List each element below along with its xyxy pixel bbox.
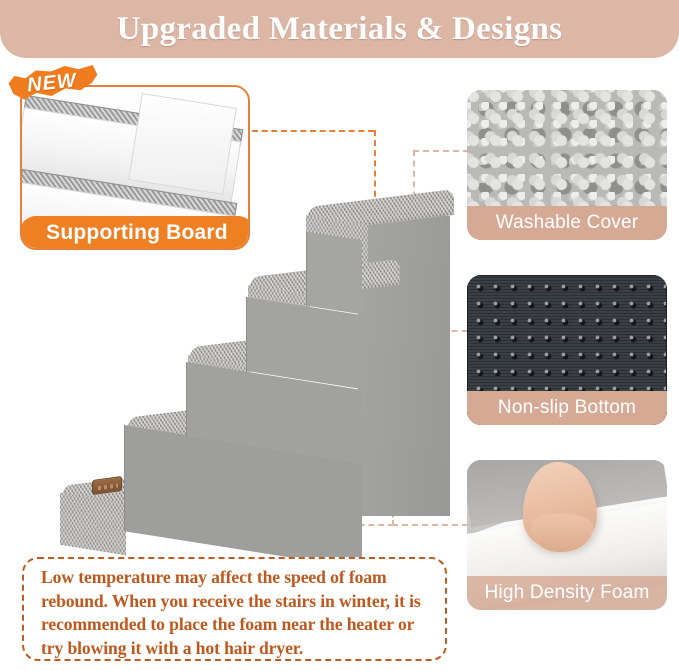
feature-card-high-density-foam: High Density Foam — [467, 460, 667, 610]
new-badge-text: NEW — [4, 61, 99, 104]
stairs-right-side-panel — [358, 216, 450, 516]
high-density-foam-label-text: High Density Foam — [485, 582, 650, 604]
page-title: Upgraded Materials & Designs — [117, 13, 563, 46]
connector-orange-horizontal — [252, 130, 374, 132]
temperature-warning-text: Low temperature may affect the speed of … — [41, 566, 429, 660]
header-banner: Upgraded Materials & Designs — [0, 0, 679, 58]
new-badge: NEW — [6, 66, 98, 100]
feature-card-non-slip-bottom: Non-slip Bottom — [467, 275, 667, 425]
stairs-front-face-top — [306, 232, 362, 315]
temperature-warning-note: Low temperature may affect the speed of … — [22, 557, 447, 661]
washable-cover-label: Washable Cover — [467, 206, 667, 240]
connector-tan-washable-horizontal — [413, 150, 469, 152]
infographic-canvas: Upgraded Materials & Designs Supporting … — [0, 0, 679, 671]
high-density-foam-label: High Density Foam — [467, 576, 667, 610]
non-slip-bottom-label: Non-slip Bottom — [467, 391, 667, 425]
washable-cover-label-text: Washable Cover — [496, 212, 639, 234]
feature-card-washable-cover: Washable Cover — [467, 90, 667, 240]
stair-riser-1 — [60, 493, 126, 555]
pet-stairs-illustration — [28, 180, 448, 550]
non-slip-bottom-label-text: Non-slip Bottom — [498, 397, 636, 419]
